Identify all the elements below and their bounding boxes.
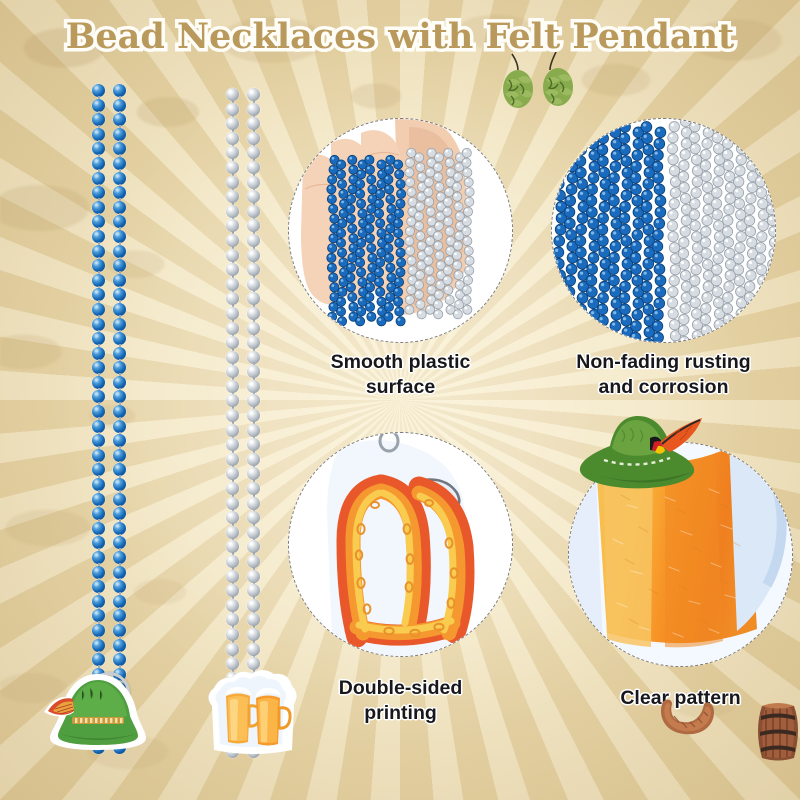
bead <box>247 365 260 378</box>
bead <box>226 540 239 553</box>
bead <box>247 190 260 203</box>
bead <box>113 536 126 549</box>
bead <box>113 201 126 214</box>
bead <box>226 599 239 612</box>
bead <box>226 613 239 626</box>
bead <box>113 463 126 476</box>
bead <box>113 186 126 199</box>
bead <box>92 522 105 535</box>
bead <box>113 318 126 331</box>
bead <box>226 117 239 130</box>
bead <box>92 536 105 549</box>
bead <box>92 609 105 622</box>
bead <box>247 497 260 510</box>
page-title-text: Bead Necklaces with Felt Pendant <box>0 16 800 57</box>
bead <box>92 493 105 506</box>
bead <box>113 580 126 593</box>
bead <box>247 219 260 232</box>
bead <box>92 580 105 593</box>
bead <box>92 142 105 155</box>
bead <box>247 88 260 101</box>
bead <box>113 595 126 608</box>
product-infographic: Bead Necklaces with Felt Pendant Bead Ne… <box>0 0 800 800</box>
bead <box>247 292 260 305</box>
bead <box>113 332 126 345</box>
bead <box>113 551 126 564</box>
bead <box>226 219 239 232</box>
bead <box>226 526 239 539</box>
bead <box>92 347 105 360</box>
bead <box>92 361 105 374</box>
bead <box>247 584 260 597</box>
bead <box>92 128 105 141</box>
feature-image-double-sided-printing <box>288 432 513 657</box>
bead <box>113 157 126 170</box>
bead <box>247 555 260 568</box>
bead <box>247 176 260 189</box>
bead <box>247 103 260 116</box>
bead <box>247 438 260 451</box>
bead <box>92 478 105 491</box>
bead <box>113 390 126 403</box>
bead <box>226 176 239 189</box>
bead <box>113 522 126 535</box>
bead <box>247 526 260 539</box>
bead <box>226 394 239 407</box>
bead <box>226 278 239 291</box>
bead <box>113 142 126 155</box>
bead <box>226 322 239 335</box>
bead <box>247 307 260 320</box>
bead <box>113 639 126 652</box>
bead <box>226 365 239 378</box>
blue-bead-strand-left <box>92 84 107 755</box>
silver-bead-strand-left <box>226 88 241 759</box>
bead <box>113 113 126 126</box>
caption-smooth-plastic-surface: Smooth plastic surface <box>288 350 513 400</box>
page-title: Bead Necklaces with Felt Pendant Bead Ne… <box>0 16 800 66</box>
bead <box>226 570 239 583</box>
bead <box>113 624 126 637</box>
bead <box>92 303 105 316</box>
beer-barrel-icon <box>752 700 800 762</box>
bead <box>92 318 105 331</box>
bead <box>92 186 105 199</box>
bavarian-hat-pendant <box>42 668 154 754</box>
bead <box>113 215 126 228</box>
bead <box>113 288 126 301</box>
bead <box>92 215 105 228</box>
bead <box>226 497 239 510</box>
bead <box>226 351 239 364</box>
bead <box>113 303 126 316</box>
bead <box>92 259 105 272</box>
bead <box>226 292 239 305</box>
bead <box>226 628 239 641</box>
bead <box>226 482 239 495</box>
bead <box>113 609 126 622</box>
bead <box>113 434 126 447</box>
bead <box>247 351 260 364</box>
bead <box>247 599 260 612</box>
bead <box>113 361 126 374</box>
caption-non-fading-rusting-corrosion: Non-fading rusting and corrosion <box>551 350 776 400</box>
bead <box>113 172 126 185</box>
bead <box>92 113 105 126</box>
bead <box>226 146 239 159</box>
feature-image-non-fading-rusting-corrosion <box>551 118 776 343</box>
bead <box>226 380 239 393</box>
bead <box>226 88 239 101</box>
bead <box>226 467 239 480</box>
bead <box>113 449 126 462</box>
bead <box>226 234 239 247</box>
bead <box>247 161 260 174</box>
bead <box>113 493 126 506</box>
bead <box>226 409 239 422</box>
bead <box>113 507 126 520</box>
bead <box>92 405 105 418</box>
bead <box>113 245 126 258</box>
bead <box>226 103 239 116</box>
bead <box>247 132 260 145</box>
bead <box>247 394 260 407</box>
bead <box>226 453 239 466</box>
bead <box>92 624 105 637</box>
bead <box>92 434 105 447</box>
bead <box>226 190 239 203</box>
bead <box>226 161 239 174</box>
bead <box>247 570 260 583</box>
bead <box>226 584 239 597</box>
bead <box>247 336 260 349</box>
bead <box>247 380 260 393</box>
bead <box>92 157 105 170</box>
bead <box>226 307 239 320</box>
bead <box>92 332 105 345</box>
bead <box>247 628 260 641</box>
bead <box>247 278 260 291</box>
bead <box>226 555 239 568</box>
bead <box>113 259 126 272</box>
bead <box>92 230 105 243</box>
bead <box>113 566 126 579</box>
bead <box>92 274 105 287</box>
blue-bead-strand-right <box>113 84 128 755</box>
silver-bead-strand-right <box>247 88 262 759</box>
bead <box>247 263 260 276</box>
bead <box>247 613 260 626</box>
bead <box>92 463 105 476</box>
caption-double-sided-printing: Double-sided printing <box>288 676 513 726</box>
bead <box>92 201 105 214</box>
bead <box>113 347 126 360</box>
bead <box>113 405 126 418</box>
bead <box>92 653 105 666</box>
sausage-icon <box>656 696 718 736</box>
bead <box>247 467 260 480</box>
bead <box>226 205 239 218</box>
bead <box>247 234 260 247</box>
silver-bead-necklace <box>226 88 268 664</box>
bead <box>247 511 260 524</box>
bead <box>92 566 105 579</box>
bead <box>226 132 239 145</box>
bead <box>226 511 239 524</box>
bead <box>226 336 239 349</box>
bead <box>247 482 260 495</box>
bead <box>113 274 126 287</box>
bead <box>92 99 105 112</box>
bead <box>92 551 105 564</box>
bead <box>92 245 105 258</box>
bead <box>92 84 105 97</box>
bead <box>92 639 105 652</box>
bead <box>92 507 105 520</box>
bead <box>92 595 105 608</box>
blue-bead-necklace <box>92 84 134 664</box>
bead <box>92 449 105 462</box>
bead <box>113 376 126 389</box>
bead <box>247 643 260 656</box>
bavarian-hat-icon <box>574 414 704 498</box>
bead <box>226 263 239 276</box>
bead <box>113 478 126 491</box>
bead <box>247 409 260 422</box>
bead <box>113 653 126 666</box>
bead <box>247 322 260 335</box>
bead <box>247 117 260 130</box>
bead <box>92 172 105 185</box>
bead <box>247 540 260 553</box>
bead <box>247 205 260 218</box>
bead <box>113 420 126 433</box>
bead <box>92 288 105 301</box>
bead <box>247 146 260 159</box>
hops-icon <box>494 52 586 114</box>
bead <box>247 424 260 437</box>
bead <box>226 249 239 262</box>
bead <box>247 453 260 466</box>
bead <box>226 424 239 437</box>
bead <box>92 420 105 433</box>
bead <box>113 128 126 141</box>
bead <box>226 643 239 656</box>
bead <box>113 230 126 243</box>
bead <box>247 249 260 262</box>
bead <box>92 376 105 389</box>
feature-image-smooth-plastic-surface <box>288 118 513 343</box>
bead <box>113 84 126 97</box>
bead <box>113 99 126 112</box>
bead <box>226 438 239 451</box>
bead <box>92 390 105 403</box>
